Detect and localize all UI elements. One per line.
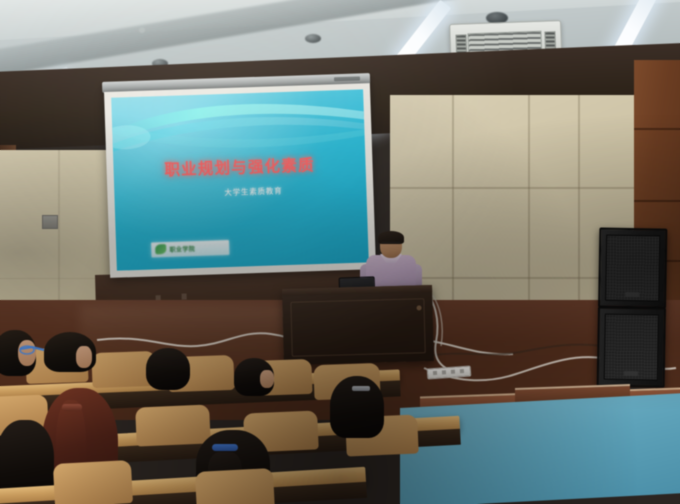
speaker-stack — [597, 227, 664, 388]
power-socket-icon — [433, 371, 437, 375]
hair-tie-icon — [212, 444, 238, 451]
hair-clip-icon — [352, 386, 370, 391]
speaker-badge-icon — [625, 292, 639, 297]
chair-back — [199, 472, 271, 504]
glasses-icon — [381, 242, 401, 248]
lecture-hall-photo: 职业规划与强化素质 大学生素质教育 职业学院 — [0, 0, 680, 504]
audience-head — [146, 348, 190, 390]
slide-logo-swoosh-icon — [155, 244, 166, 254]
hair-tie-icon — [62, 404, 82, 411]
speaker-bottom — [597, 306, 666, 387]
projection-screen: 职业规划与强化素质 大学生素质教育 职业学院 — [104, 83, 376, 278]
chair-frame — [53, 460, 133, 504]
aisle-floor — [400, 393, 680, 504]
chair-back — [95, 355, 152, 387]
podium-knob-icon — [417, 305, 422, 310]
slide-surface: 职业规划与强化素质 大学生素质教育 职业学院 — [111, 89, 369, 270]
wood-seam — [634, 200, 680, 202]
speaker-badge-icon — [624, 371, 638, 376]
chair-back — [139, 409, 206, 446]
screen-brand-icon — [334, 76, 360, 81]
slide-subtitle: 大学生素质教育 — [114, 183, 366, 202]
podium — [282, 285, 434, 365]
slide-logo-text: 职业学院 — [169, 244, 195, 254]
wall-plate-icon — [42, 215, 58, 229]
speaker-top — [598, 227, 667, 308]
podium-front-panel — [290, 298, 425, 356]
audience-face — [76, 346, 92, 368]
chair-frame — [135, 404, 211, 446]
wall-dot — [182, 293, 187, 299]
sprinkler-icon — [139, 27, 145, 33]
ceiling-speaker-icon — [305, 34, 321, 43]
chair-frame — [195, 468, 275, 504]
audience-face — [260, 370, 274, 388]
power-socket-icon — [460, 369, 464, 373]
stone-seam — [390, 187, 640, 189]
power-socket-icon — [451, 370, 455, 374]
slide-logo: 职业学院 — [151, 240, 229, 258]
power-socket-icon — [442, 370, 446, 374]
slide-title: 职业规划与强化素质 — [113, 152, 366, 182]
chair-back — [57, 464, 129, 504]
wood-seam — [634, 128, 680, 130]
